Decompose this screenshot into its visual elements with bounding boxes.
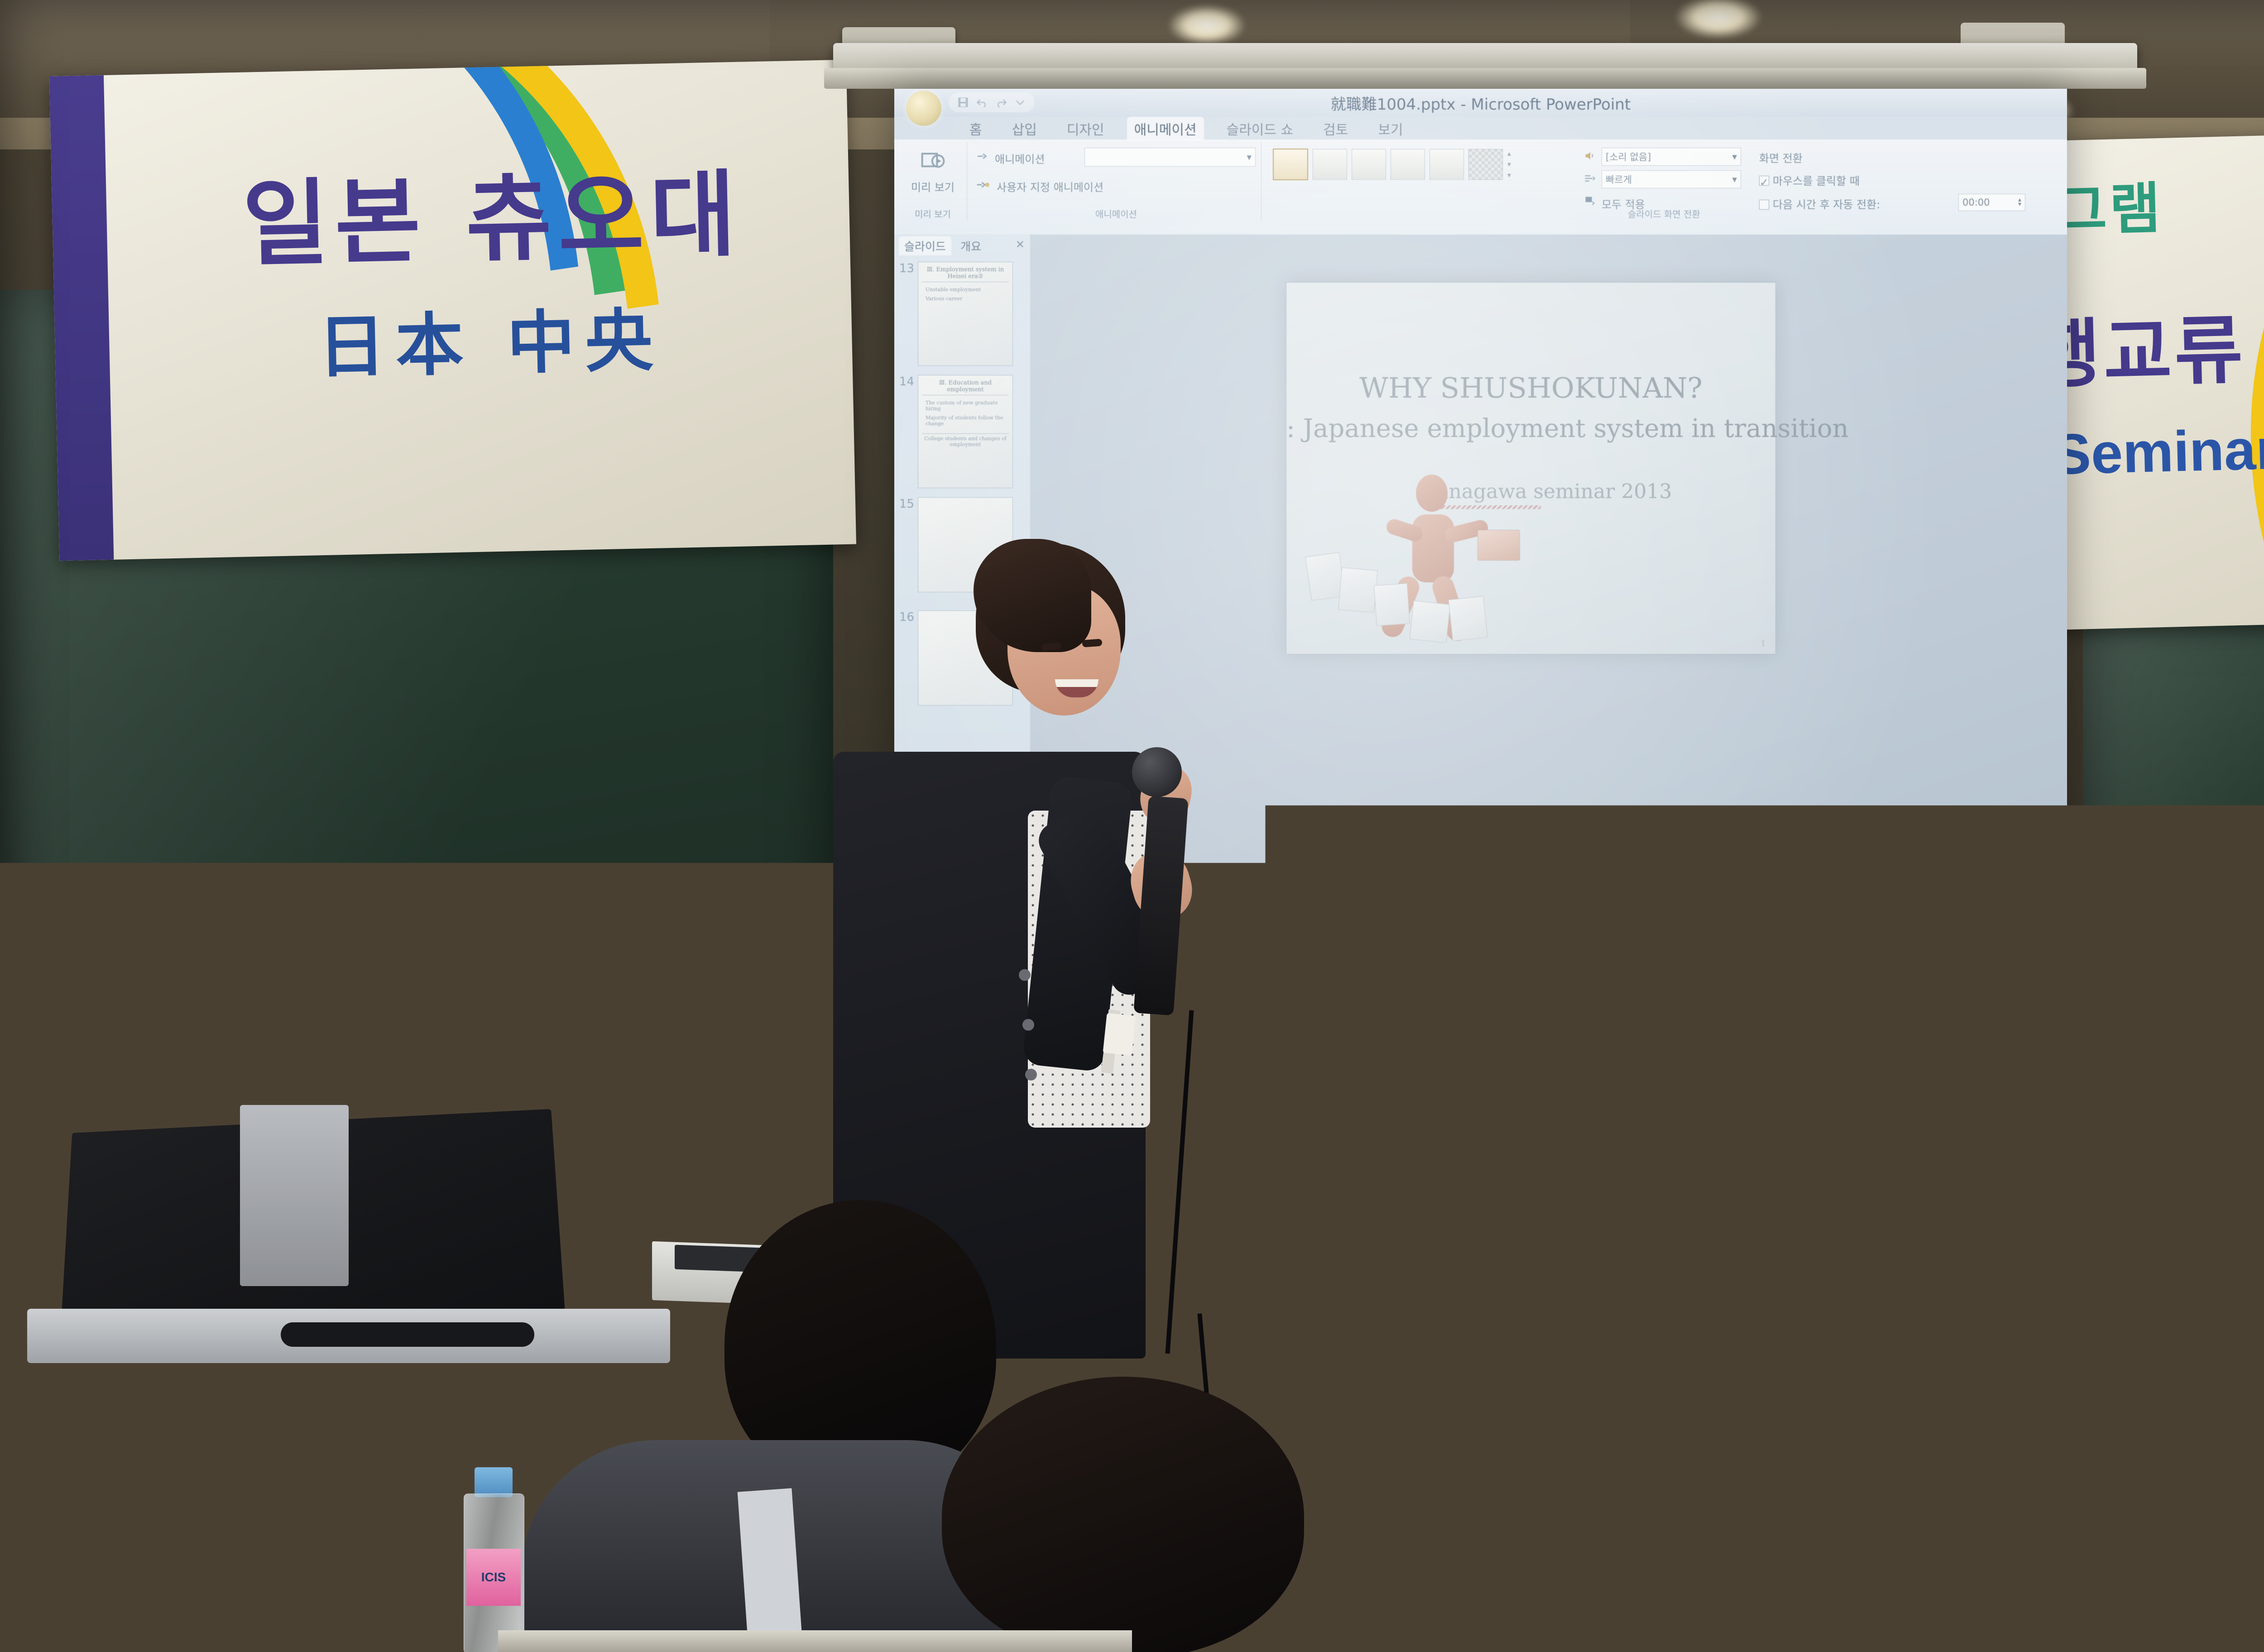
- banner-left: 일본 츄오대 日本 中央: [49, 60, 856, 561]
- transition-thumb-3[interactable]: [1352, 149, 1386, 180]
- bottle-cap: [1564, 1463, 1600, 1491]
- water-bottle-2: [1549, 1463, 1616, 1652]
- tray-icon-1[interactable]: [1926, 1234, 1936, 1244]
- fit-to-window-icon[interactable]: ⤢: [2052, 1214, 2059, 1224]
- eraser-band-right: [2130, 1013, 2221, 1032]
- ribbon-tab-review[interactable]: 검토: [1316, 117, 1355, 140]
- bottle-brand: ICIS: [2239, 1551, 2264, 1568]
- thumbnail-bullet: Various career: [926, 296, 1009, 302]
- ribbon-group-preview: 미리 보기 미리 보기: [899, 142, 967, 221]
- audience-collar-1: [738, 1488, 802, 1641]
- chevron-down-icon[interactable]: ▾: [1732, 174, 1737, 185]
- animate-label: 애니메이션: [995, 150, 1045, 166]
- speaker-teeth: [1055, 679, 1098, 687]
- slide-subheading: : Japanese employment system in transiti…: [1286, 414, 1775, 443]
- board-eraser-right: BOARD ERASER: [2128, 1011, 2223, 1054]
- ribbon-tab-home[interactable]: 홈: [962, 117, 989, 140]
- audience-lanyard-strap-3: [1458, 1471, 1507, 1622]
- wall-marking: 3: [1281, 1268, 1313, 1322]
- transition-thumb-5[interactable]: [1429, 149, 1464, 180]
- sound-icon: [1583, 149, 1597, 162]
- clipart-box-2: [1338, 567, 1378, 613]
- list-item[interactable]: 13 Ⅲ. Employment system in Heisei era② U…: [894, 262, 1030, 366]
- ribbon-group-animation: 애니메이션 ▾ 사용자 지정 애니메이션 애니메이션: [971, 142, 1262, 221]
- chevron-down-icon[interactable]: ▾: [1247, 152, 1252, 163]
- chevron-down-icon[interactable]: ▾: [1732, 151, 1737, 162]
- transition-sound-value: [소리 없음]: [1606, 150, 1651, 163]
- apply-all-icon: [1583, 195, 1597, 207]
- ribbon-tab-design[interactable]: 디자인: [1060, 117, 1112, 140]
- ribbon-tab-insert[interactable]: 삽입: [1005, 117, 1044, 140]
- microphone-head: [1132, 747, 1182, 797]
- clipart-briefcase: [1477, 530, 1520, 561]
- slide-thumbnail[interactable]: Ⅲ. Employment system in Heisei era② Unst…: [918, 262, 1013, 366]
- audience-table-edge: [498, 1630, 1132, 1652]
- thumbnail-bullet: Majority of students follow the change: [926, 415, 1009, 427]
- transition-speed-value: 빠르게: [1606, 173, 1632, 186]
- custom-animation-icon: [975, 178, 991, 192]
- powerpoint-title-bar: 就職難1004.pptx - Microsoft PowerPoint: [894, 89, 2067, 117]
- zoom-in-icon[interactable]: ⊕: [2037, 1213, 2045, 1225]
- ceiling-light-1: [1168, 5, 1245, 45]
- bottle-label: ICIS: [466, 1549, 521, 1606]
- eraser-band: [566, 1061, 698, 1089]
- advance-on-click-label: 마우스를 클릭할 때: [1773, 175, 1860, 187]
- ribbon: 미리 보기 미리 보기 애니메이션 ▾ 사용자 지정 애니메이션 애니메이션: [894, 139, 2067, 235]
- ribbon-group-transition: ▴ ▾ ▾ [소리 없음] ▾ 빠르게 ▾: [1266, 142, 2063, 221]
- console-button-strip[interactable]: [281, 1322, 534, 1347]
- ribbon-tab-strip[interactable]: 홈 삽입 디자인 애니메이션 슬라이드 쇼 검토 보기: [962, 115, 1410, 140]
- jacket-button-3: [1025, 1069, 1037, 1081]
- slide-number: 16: [899, 610, 914, 624]
- clipart-walking-figure: [1332, 473, 1522, 645]
- bottle-body: [1554, 1487, 1612, 1652]
- wall-outlet-socket: [1296, 1349, 1323, 1377]
- more-icon[interactable]: ▾: [1507, 171, 1511, 180]
- view-slideshow-icon[interactable]: [1904, 1214, 1916, 1224]
- water-bottle-1: ICIS: [457, 1467, 530, 1652]
- slide-number: 13: [899, 262, 914, 275]
- board-eraser-left: BOARD ERASER: [564, 1060, 701, 1120]
- slide-number: 14: [899, 375, 914, 389]
- banner-right-line1: 그램: [2055, 163, 2164, 246]
- thumbnail-underline-text: College students and changes of employme…: [922, 433, 1009, 447]
- spinner-arrows[interactable]: ▴▾: [2018, 198, 2021, 207]
- zoom-slider-thumb[interactable]: [1976, 1215, 1979, 1223]
- close-icon[interactable]: ✕: [1016, 238, 1025, 251]
- speaker-name-badge: [1103, 1013, 1136, 1056]
- banner-right-line3: Seminar: [2052, 416, 2264, 487]
- ribbon-tab-slideshow[interactable]: 슬라이드 쇼: [1219, 117, 1301, 140]
- ribbon-group-label-transition: 슬라이드 화면 전환: [1266, 207, 2063, 220]
- list-item[interactable]: 14 Ⅲ. Education and employment The custo…: [894, 375, 1030, 488]
- transition-gallery[interactable]: ▴ ▾ ▾: [1273, 149, 1511, 180]
- quick-access-toolbar[interactable]: [949, 92, 1035, 112]
- transition-speed-dropdown[interactable]: 빠르게 ▾: [1602, 170, 1741, 188]
- slide-page-number: 1: [1761, 639, 1765, 648]
- powerpoint-title-text: 就職難1004.pptx - Microsoft PowerPoint: [1331, 92, 1631, 114]
- clipart-head: [1416, 475, 1448, 512]
- thumbnail-title: Ⅲ. Employment system in Heisei era②: [922, 267, 1009, 282]
- slide-panel-tab-slides[interactable]: 슬라이드: [899, 236, 951, 255]
- clipart-torso: [1412, 514, 1454, 582]
- transition-thumb-2[interactable]: [1313, 149, 1347, 180]
- eraser-label-right: BOARD ERASER: [2130, 1038, 2221, 1050]
- slide-number: 15: [899, 497, 914, 511]
- animation-icon: [975, 149, 990, 163]
- jacket-button-2: [1022, 1019, 1034, 1031]
- slide-panel-tab-outline[interactable]: 개요: [955, 236, 987, 255]
- advance-time-value: 00:00: [1962, 197, 1990, 208]
- redo-icon[interactable]: [995, 96, 1007, 109]
- screen-roller: [824, 68, 2146, 89]
- transition-sound-dropdown[interactable]: [소리 없음] ▾: [1602, 148, 1741, 166]
- preview-button-label[interactable]: 미리 보기: [899, 178, 967, 194]
- office-orb-button[interactable]: [906, 91, 941, 126]
- undo-icon[interactable]: [976, 96, 988, 109]
- banner-left-headline: 일본 츄오대: [241, 139, 743, 284]
- clipart-box-4: [1410, 600, 1451, 643]
- chalkboard-frame-left: [0, 1087, 833, 1105]
- clipart-box-5: [1448, 596, 1487, 641]
- ribbon-tab-view[interactable]: 보기: [1371, 117, 1410, 140]
- chalkboard-right: [2083, 607, 2264, 1014]
- taskbar-clock: 오후 3:42: [2010, 1234, 2055, 1249]
- zoom-slider[interactable]: [1963, 1218, 2031, 1220]
- custom-animation-button[interactable]: 사용자 지정 애니메이션: [997, 178, 1103, 194]
- thumbnail-title: Ⅲ. Education and employment: [922, 380, 1009, 395]
- lecture-hall-photo: BOARD ERASER BOARD ERASER 일본 츄오대 日本 中央 그…: [0, 0, 2264, 1652]
- ribbon-group-label-animation: 애니메이션: [971, 207, 1261, 220]
- jacket-button-1: [1019, 969, 1031, 981]
- zoom-out-icon[interactable]: ⊖: [1948, 1213, 1956, 1225]
- preview-icon[interactable]: [919, 149, 947, 175]
- taskbar-item-current-ppt[interactable]: 就職難1004.pptx: [1170, 1230, 1281, 1249]
- current-slide[interactable]: WHY SHUSHOKUNAN? : Japanese employment s…: [1286, 282, 1776, 654]
- thumbnail-bullet: Unstable employment: [926, 287, 1009, 293]
- tray-icon-2[interactable]: [1943, 1234, 1953, 1244]
- slide-editing-area[interactable]: WHY SHUSHOKUNAN? : Japanese employment s…: [1030, 235, 2067, 1185]
- bottle-brand: ICIS: [481, 1570, 506, 1585]
- ribbon-tab-animations[interactable]: 애니메이션: [1127, 117, 1204, 140]
- advance-on-click-checkbox[interactable]: ✓: [1759, 176, 1769, 186]
- animation-dropdown[interactable]: ▾: [1084, 148, 1256, 167]
- transition-thumb-1[interactable]: [1273, 149, 1308, 180]
- chalkboard-glare-right: [2083, 607, 2264, 1014]
- bottle-label: ICIS 8.0: [2223, 1533, 2264, 1597]
- monitor-stand: [240, 1105, 349, 1286]
- slide-thumbnail[interactable]: Ⅲ. Education and employment The custom o…: [918, 375, 1013, 488]
- advance-slide-label: 화면 전환: [1759, 149, 1803, 165]
- save-icon[interactable]: [957, 96, 969, 109]
- thumbnail-bullet: The custom of new graduate hiring: [926, 400, 1009, 412]
- slide-panel-tabs[interactable]: 슬라이드 개요: [894, 235, 1030, 255]
- eraser-label: BOARD ERASER: [567, 1094, 699, 1114]
- transition-thumb-6[interactable]: [1468, 149, 1503, 180]
- bottle-cap: [475, 1467, 513, 1497]
- ribbon-group-label-preview: 미리 보기: [899, 207, 967, 220]
- advance-on-click-row[interactable]: ✓마우스를 클릭할 때: [1759, 172, 1860, 188]
- banner-left-subhead: 日本 中央: [317, 285, 664, 391]
- clipart-box-3: [1374, 583, 1410, 626]
- transition-thumb-4[interactable]: [1391, 149, 1425, 180]
- tray-icon-3[interactable]: [1960, 1234, 1970, 1244]
- bottle-cap: [2232, 1445, 2264, 1476]
- view-sorter-icon[interactable]: [1886, 1214, 1898, 1224]
- slide-heading: WHY SHUSHOKUNAN?: [1286, 371, 1775, 404]
- chevron-down-icon[interactable]: ▾: [1507, 160, 1511, 169]
- speed-icon: [1583, 172, 1597, 185]
- gallery-scroll-controls[interactable]: ▴ ▾ ▾: [1507, 149, 1511, 180]
- bottle-sub: 8.0: [2247, 1569, 2258, 1579]
- chevron-up-icon[interactable]: ▴: [1507, 149, 1511, 158]
- zoom-level: 50%: [1923, 1214, 1942, 1224]
- speaker-eye-right: [1082, 639, 1102, 647]
- chevron-down-icon[interactable]: [1014, 96, 1026, 109]
- taskbar-label: 就職難1004.pptx: [1190, 1232, 1275, 1247]
- view-normal-icon[interactable]: [1868, 1214, 1880, 1224]
